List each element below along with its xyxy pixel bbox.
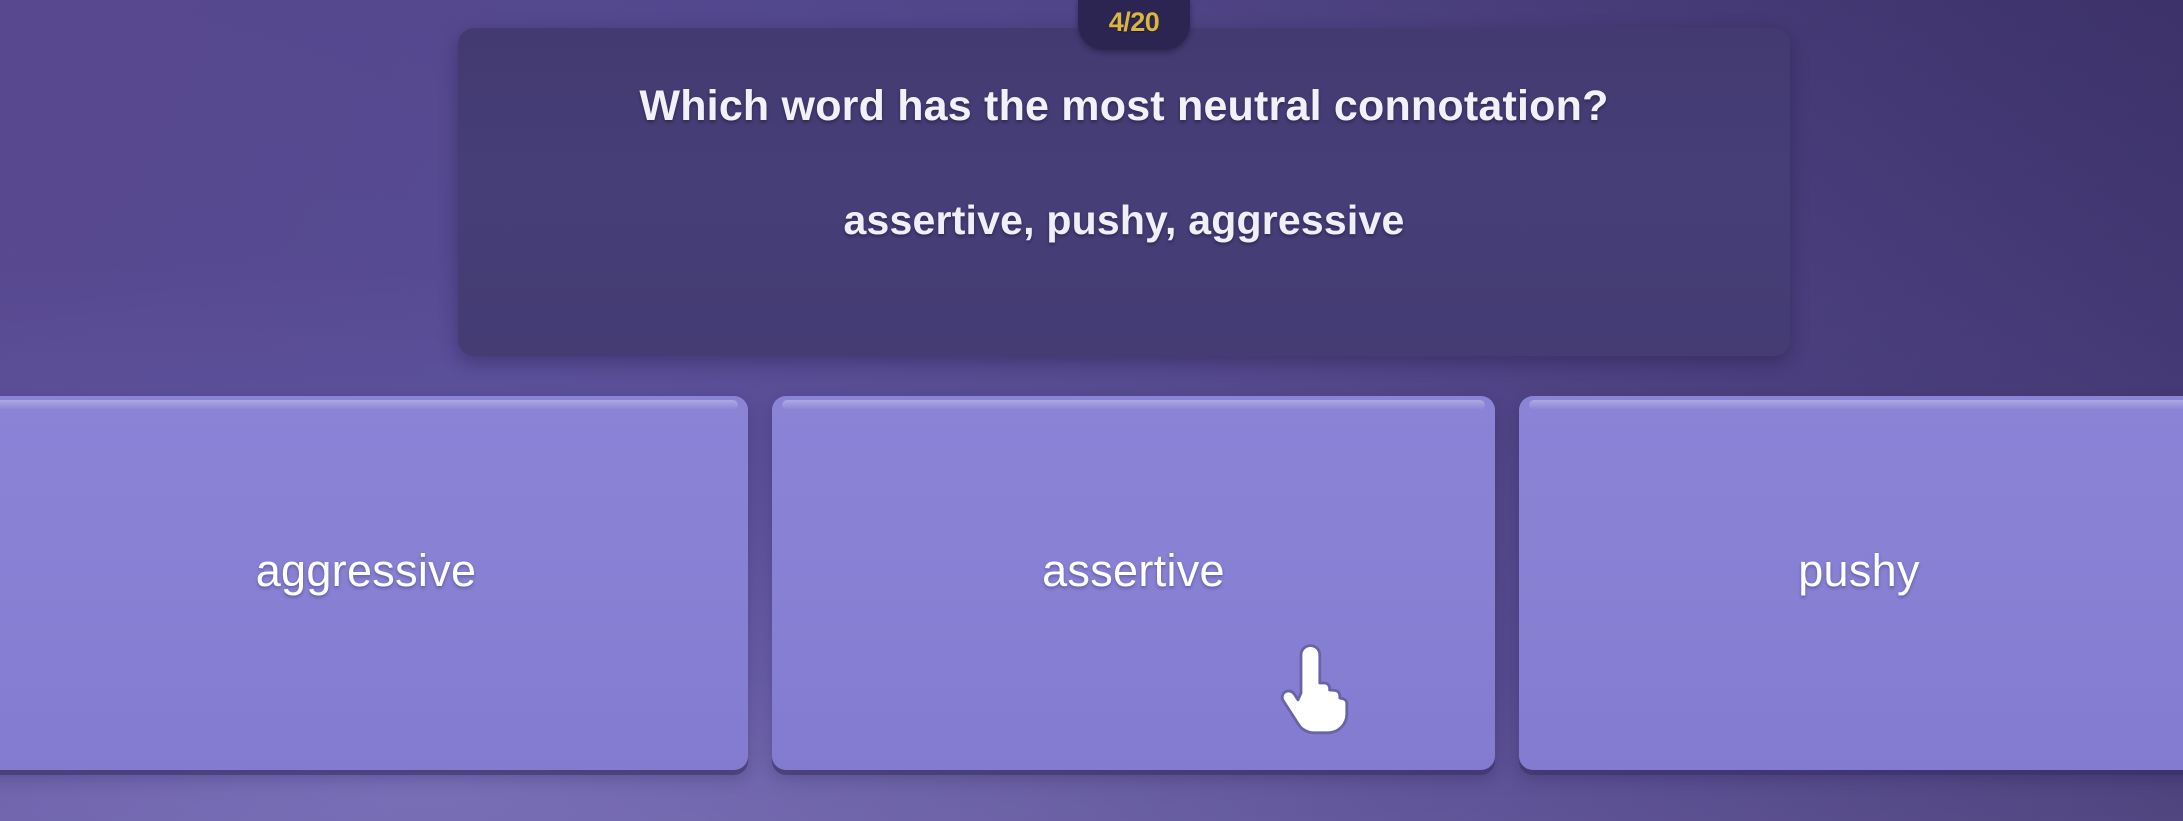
answer-option-label: pushy	[1798, 546, 1920, 596]
question-progress-text: 4/20	[1109, 9, 1160, 36]
answer-option-label: aggressive	[256, 546, 477, 596]
answer-option-pushy[interactable]: pushy	[1519, 396, 2183, 770]
quiz-screen: 4/20 Which word has the most neutral con…	[0, 0, 2183, 821]
question-prompt: Which word has the most neutral connotat…	[599, 82, 1648, 131]
question-card: Which word has the most neutral connotat…	[458, 28, 1790, 356]
answer-options-row: aggressive assertive pushy	[0, 396, 2183, 770]
question-progress-badge: 4/20	[1078, 0, 1190, 50]
answer-option-aggressive[interactable]: aggressive	[0, 396, 748, 770]
question-subtext: assertive, pushy, aggressive	[804, 197, 1445, 244]
answer-option-assertive[interactable]: assertive	[772, 396, 1495, 770]
answer-option-label: assertive	[1042, 546, 1225, 596]
